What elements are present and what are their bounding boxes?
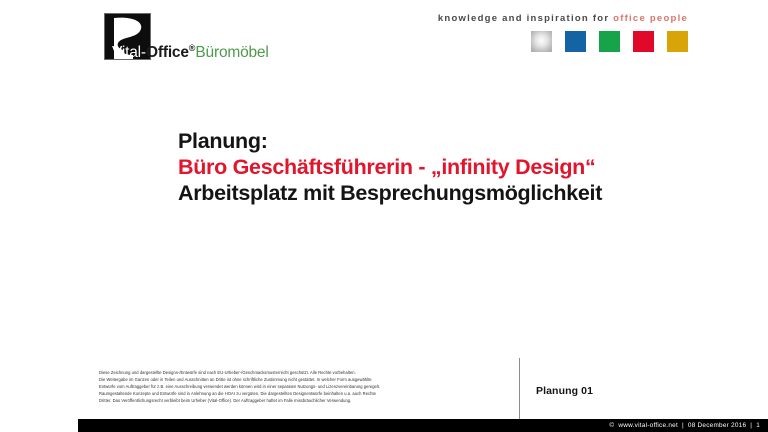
copyright-icon: © bbox=[609, 422, 614, 429]
logo-word-office: Office bbox=[146, 44, 189, 61]
logo-wordmark: Vital-Office®Büromöbel bbox=[112, 44, 269, 61]
swatch-silver bbox=[531, 31, 552, 52]
footer-text: © www.vital-office.net | 08 December 201… bbox=[609, 419, 760, 432]
fineprint-line: Entwürfe vom Auftraggeber für z.B. eine … bbox=[99, 383, 511, 390]
title-line-1: Planung: bbox=[178, 128, 602, 154]
logo-word-vital: Vital bbox=[112, 44, 141, 61]
logo-word-bueromoebel: Büromöbel bbox=[195, 44, 268, 61]
legal-fineprint: Diese Zeichnung und dargestellte Designs… bbox=[99, 369, 511, 404]
footer-page-number: 1 bbox=[756, 422, 760, 429]
footer-vertical-divider bbox=[519, 358, 520, 419]
tagline-primary: knowledge and inspiration for bbox=[438, 13, 609, 24]
plan-label: Planung 01 bbox=[536, 385, 593, 397]
footer-website[interactable]: www.vital-office.net bbox=[618, 422, 678, 429]
brand-color-swatches bbox=[531, 31, 688, 52]
fineprint-line: Raumgestaltende Konzepte und Entwürfe si… bbox=[99, 390, 511, 397]
swatch-gold bbox=[667, 31, 688, 52]
footer-separator-1: | bbox=[682, 422, 684, 429]
fineprint-line: Dritter. Das Veröffentlichungsrecht verb… bbox=[99, 397, 511, 404]
title-line-3: Arbeitsplatz mit Besprechungsmöglichkeit bbox=[178, 180, 602, 206]
tagline-accent: office people bbox=[613, 13, 688, 24]
footer-bar: © www.vital-office.net | 08 December 201… bbox=[78, 419, 768, 432]
footer-date: 08 December 2016 bbox=[688, 422, 746, 429]
header-tagline: knowledge and inspiration for office peo… bbox=[438, 13, 688, 24]
footer-separator-2: | bbox=[750, 422, 752, 429]
page-title: Planung: Büro Geschäftsführerin - „infin… bbox=[178, 128, 602, 206]
fineprint-line: Diese Zeichnung und dargestellte Designs… bbox=[99, 369, 511, 376]
swatch-green bbox=[599, 31, 620, 52]
title-line-2: Büro Geschäftsführerin - „infinity Desig… bbox=[178, 154, 602, 180]
swatch-red bbox=[633, 31, 654, 52]
fineprint-line: Die Weitergabe im Ganzen oder in Teilen … bbox=[99, 376, 511, 383]
swatch-blue bbox=[565, 31, 586, 52]
